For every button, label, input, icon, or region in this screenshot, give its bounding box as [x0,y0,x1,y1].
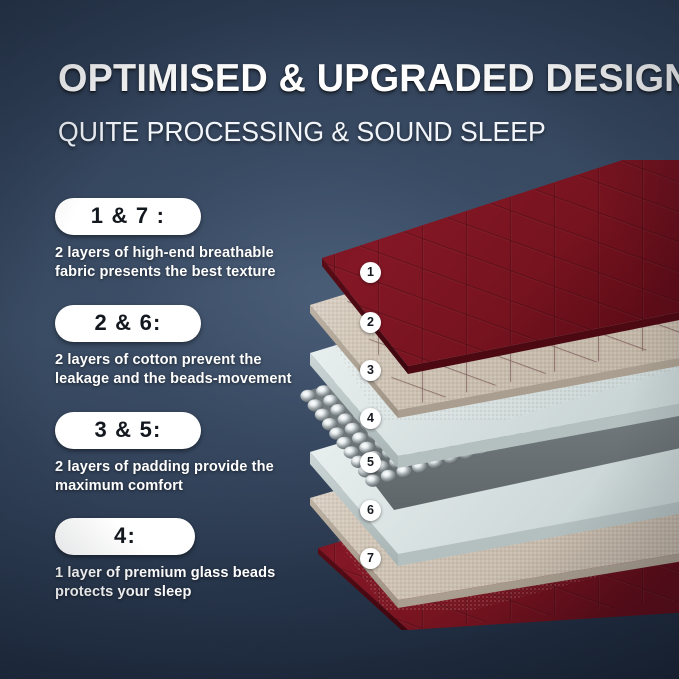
page-subtitle: QUITE PROCESSING & SOUND SLEEP [58,116,628,148]
caption-block-3-5: 3 & 5: 2 layers of padding provide the m… [55,412,305,496]
caption-label-1-7: 1 & 7 : [55,198,201,235]
glass-bead [381,470,396,482]
caption-label-4: 4: [55,518,195,555]
layer-badge-4: 4 [360,408,381,429]
layer-badge-5: 5 [360,452,381,473]
layer-badge-1: 1 [360,262,381,283]
layer-badge-7: 7 [360,548,381,569]
layer-stack-diagram [290,160,679,630]
layer-badge-2: 2 [360,312,381,333]
page-title: OPTIMISED & UPGRADED DESIGN [58,57,640,101]
caption-block-2-6: 2 & 6: 2 layers of cotton prevent the le… [55,305,305,389]
caption-text-3-5: 2 layers of padding provide the maximum … [55,458,305,496]
caption-label-3-5: 3 & 5: [55,412,201,449]
layer-badge-6: 6 [360,500,381,521]
product-infographic: OPTIMISED & UPGRADED DESIGN QUITE PROCES… [0,0,679,679]
caption-text-2-6: 2 layers of cotton prevent the leakage a… [55,351,305,389]
caption-text-4: 1 layer of premium glass beads protects … [55,564,305,602]
caption-block-4: 4: 1 layer of premium glass beads protec… [55,518,305,602]
caption-label-2-6: 2 & 6: [55,305,201,342]
glass-bead [365,474,380,486]
caption-text-1-7: 2 layers of high-end breathable fabric p… [55,244,305,282]
layer-badge-3: 3 [360,360,381,381]
caption-block-1-7: 1 & 7 : 2 layers of high-end breathable … [55,198,305,282]
